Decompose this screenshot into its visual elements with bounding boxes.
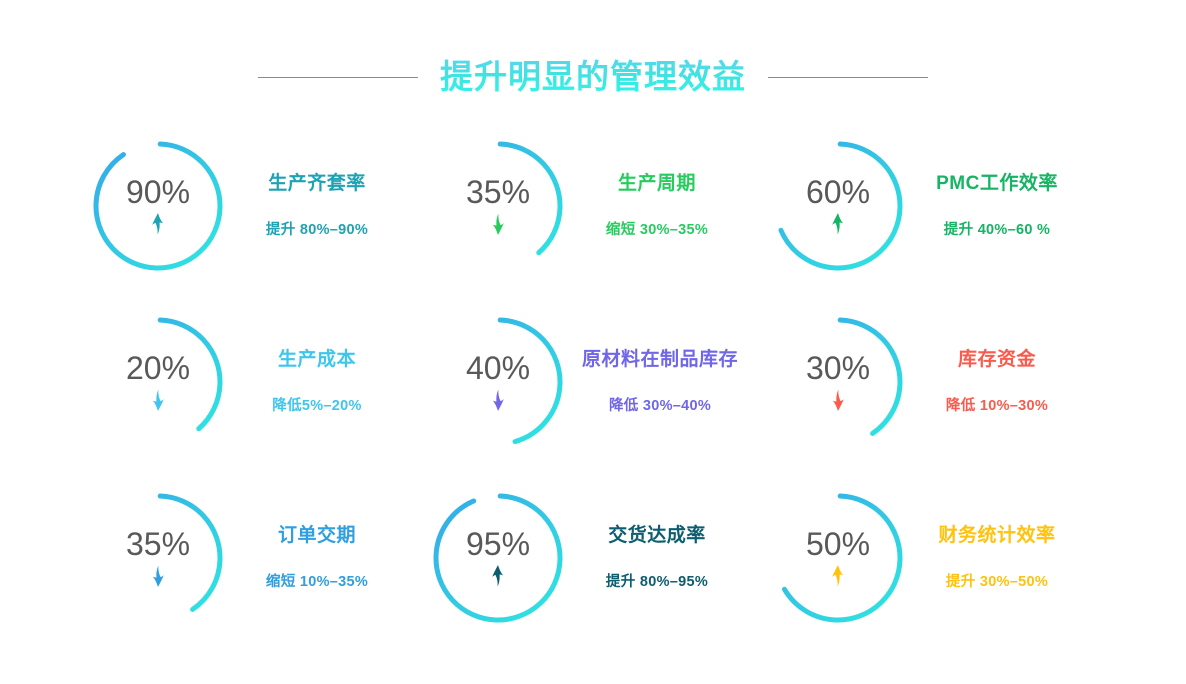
metric-title: 财务统计效率 xyxy=(938,525,1055,548)
metric-card-8[interactable]: 95% 交货达成率 提升 80%–95% xyxy=(428,470,768,646)
progress-ring: 95% xyxy=(428,488,568,628)
arrow-down-icon xyxy=(488,388,508,412)
ring-value: 35% xyxy=(126,528,190,560)
metric-title: 生产齐套率 xyxy=(268,173,366,196)
header-rule-right xyxy=(768,77,928,78)
metric-card-1[interactable]: 90% 生产齐套率 提升 80%–90% xyxy=(88,118,428,294)
ring-value: 60% xyxy=(806,176,870,208)
progress-ring: 90% xyxy=(88,136,228,276)
arrow-down-icon xyxy=(828,388,848,412)
header-rule-left xyxy=(258,77,418,78)
metric-title: 原材料在制品库存 xyxy=(582,349,738,372)
metric-labels: 生产齐套率 提升 80%–90% xyxy=(242,173,392,239)
metric-title: PMC工作效率 xyxy=(936,173,1058,196)
metric-card-5[interactable]: 40% 原材料在制品库存 降低 30%–40% xyxy=(428,294,768,470)
metric-subtitle: 提升 40%–60 % xyxy=(944,222,1050,239)
ring-value: 40% xyxy=(466,352,530,384)
metric-subtitle: 降低5%–20% xyxy=(272,398,361,415)
page-title: 提升明显的管理效益 xyxy=(440,59,746,95)
progress-ring: 20% xyxy=(88,312,228,452)
page-header: 提升明显的管理效益 xyxy=(0,52,1186,102)
metric-labels: 财务统计效率 提升 30%–50% xyxy=(922,525,1072,591)
ring-center: 90% xyxy=(88,136,228,276)
metric-title: 生产周期 xyxy=(618,173,696,196)
ring-center: 60% xyxy=(768,136,908,276)
metric-subtitle: 缩短 10%–35% xyxy=(266,574,368,591)
progress-ring: 60% xyxy=(768,136,908,276)
ring-center: 35% xyxy=(428,136,568,276)
arrow-down-icon xyxy=(148,564,168,588)
arrow-up-icon xyxy=(828,564,848,588)
progress-ring: 35% xyxy=(428,136,568,276)
metric-labels: 订单交期 缩短 10%–35% xyxy=(242,525,392,591)
metric-subtitle: 提升 80%–95% xyxy=(606,574,708,591)
metric-title: 库存资金 xyxy=(958,349,1036,372)
metric-card-6[interactable]: 30% 库存资金 降低 10%–30% xyxy=(768,294,1108,470)
metrics-grid: 90% 生产齐套率 提升 80%–90% xyxy=(88,118,1108,646)
metric-labels: 生产周期 缩短 30%–35% xyxy=(582,173,732,239)
ring-center: 35% xyxy=(88,488,228,628)
ring-center: 20% xyxy=(88,312,228,452)
metric-subtitle: 提升 80%–90% xyxy=(266,222,368,239)
progress-ring: 30% xyxy=(768,312,908,452)
ring-value: 50% xyxy=(806,528,870,560)
arrow-up-icon xyxy=(148,212,168,236)
ring-value: 90% xyxy=(126,176,190,208)
metric-labels: 原材料在制品库存 降低 30%–40% xyxy=(582,349,738,415)
ring-value: 35% xyxy=(466,176,530,208)
metric-title: 订单交期 xyxy=(278,525,356,548)
metric-card-2[interactable]: 35% 生产周期 缩短 30%–35% xyxy=(428,118,768,294)
ring-value: 20% xyxy=(126,352,190,384)
metric-title: 交货达成率 xyxy=(608,525,706,548)
metric-card-7[interactable]: 35% 订单交期 缩短 10%–35% xyxy=(88,470,428,646)
metric-labels: 交货达成率 提升 80%–95% xyxy=(582,525,732,591)
ring-value: 30% xyxy=(806,352,870,384)
metric-subtitle: 提升 30%–50% xyxy=(946,574,1048,591)
metric-labels: 库存资金 降低 10%–30% xyxy=(922,349,1072,415)
arrow-up-icon xyxy=(488,564,508,588)
metric-card-9[interactable]: 50% 财务统计效率 提升 30%–50% xyxy=(768,470,1108,646)
progress-ring: 35% xyxy=(88,488,228,628)
metric-card-4[interactable]: 20% 生产成本 降低5%–20% xyxy=(88,294,428,470)
progress-ring: 40% xyxy=(428,312,568,452)
progress-ring: 50% xyxy=(768,488,908,628)
metric-card-3[interactable]: 60% PMC工作效率 提升 40%–60 % xyxy=(768,118,1108,294)
ring-center: 40% xyxy=(428,312,568,452)
ring-value: 95% xyxy=(466,528,530,560)
arrow-down-icon xyxy=(148,388,168,412)
metric-subtitle: 降低 30%–40% xyxy=(609,398,711,415)
metric-subtitle: 缩短 30%–35% xyxy=(606,222,708,239)
arrow-down-icon xyxy=(488,212,508,236)
metric-labels: PMC工作效率 提升 40%–60 % xyxy=(922,173,1072,239)
arrow-up-icon xyxy=(828,212,848,236)
ring-center: 50% xyxy=(768,488,908,628)
ring-center: 95% xyxy=(428,488,568,628)
metric-labels: 生产成本 降低5%–20% xyxy=(242,349,392,415)
metric-subtitle: 降低 10%–30% xyxy=(946,398,1048,415)
metric-title: 生产成本 xyxy=(278,349,356,372)
ring-center: 30% xyxy=(768,312,908,452)
